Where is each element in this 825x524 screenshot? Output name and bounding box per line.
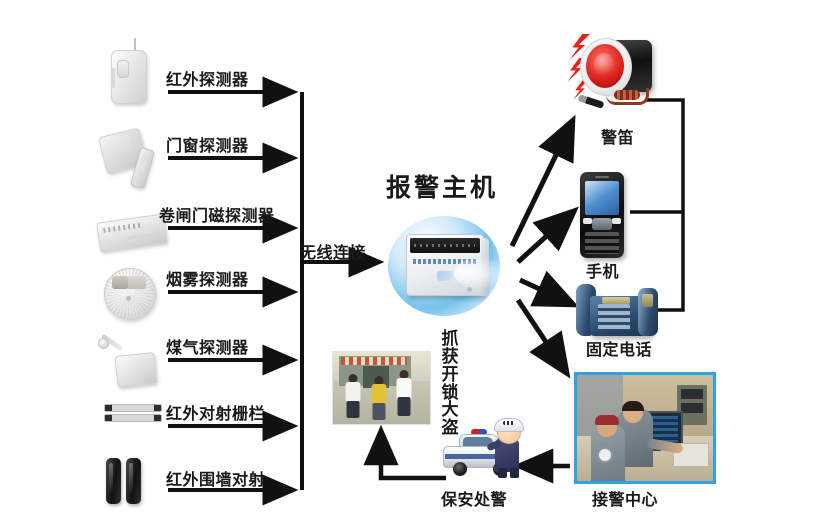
- output-label-landline: 固定电话: [586, 336, 652, 360]
- output-label-siren: 警笛: [601, 124, 634, 148]
- sensor-label-smoke: 烟雾探测器: [166, 266, 249, 290]
- siren-icon: [566, 30, 676, 122]
- ir-wall-beam-icon: [106, 458, 156, 506]
- sensor-label-ir-barrier: 红外对射栅栏: [166, 400, 265, 424]
- sensor-label-pir: 红外探测器: [166, 66, 249, 90]
- sensor-label-roller-shutter: 卷闸门磁探测器: [159, 202, 275, 226]
- response-label-security: 保安处警: [441, 486, 507, 510]
- wireless-link-label: 无线连接: [300, 239, 366, 263]
- sensor-label-door-window: 门窗探测器: [166, 132, 249, 156]
- response-label-arrest: 抓获开锁大盗: [440, 330, 460, 437]
- roller-shutter-magnet-icon: [98, 206, 168, 252]
- output-label-center: 接警中心: [592, 486, 658, 510]
- pir-detector-icon: [103, 38, 159, 108]
- door-window-contact-icon: [100, 126, 160, 192]
- mobile-phone-icon: [580, 172, 630, 262]
- monitoring-center-photo: [574, 372, 716, 484]
- diagram-canvas: 红外探测器 门窗探测器 卷闸门磁探测器 烟雾探测器 煤气探测器 红外对射栅栏 红…: [0, 0, 825, 524]
- landline-phone-icon: [576, 278, 668, 340]
- alarm-host-icon: [388, 212, 514, 320]
- smoke-detector-icon: [100, 262, 160, 322]
- sensor-label-gas: 煤气探测器: [166, 334, 249, 358]
- arrest-photo: [333, 352, 430, 424]
- gas-detector-icon: [98, 330, 160, 392]
- sensor-label-ir-wall: 红外围墙对射: [166, 466, 265, 490]
- page-title: 报警主机: [386, 168, 498, 204]
- ir-beam-barrier-icon: [104, 404, 162, 426]
